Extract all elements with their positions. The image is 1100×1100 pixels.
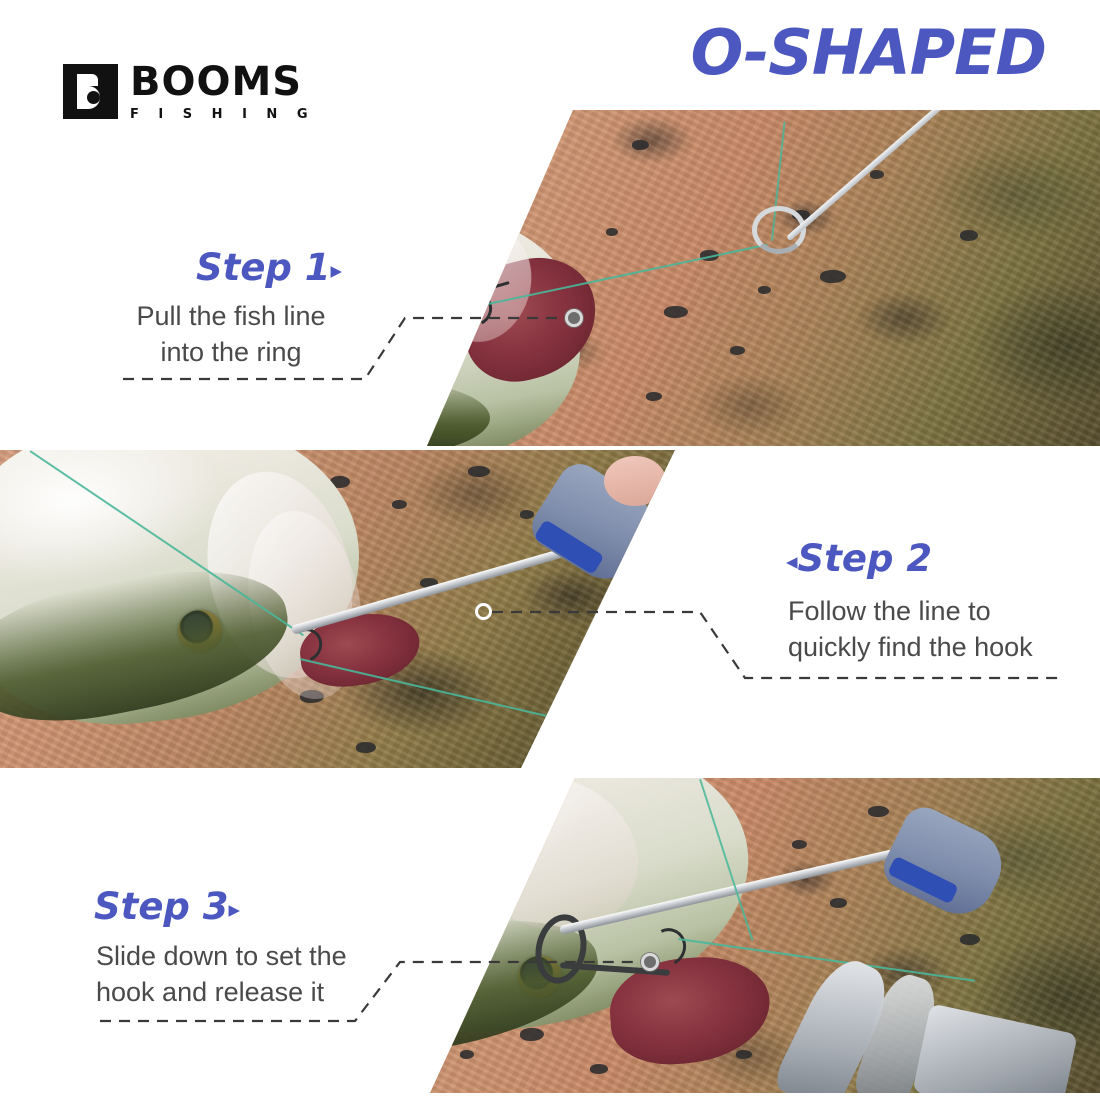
panel-3-image — [400, 778, 1100, 1093]
step-3-label: Step 3 — [94, 885, 229, 928]
marker-step-2 — [475, 603, 492, 620]
step-2-title: ◂Step 2 — [786, 537, 932, 580]
marker-step-3 — [641, 953, 659, 971]
fish-eye — [400, 362, 434, 398]
step-3-title: Step 3▸ — [94, 885, 240, 928]
step-1-label: Step 1 — [196, 246, 331, 289]
panel-2-image — [0, 450, 680, 768]
step-3-body: Slide down to set the hook and release i… — [96, 938, 396, 1010]
step-1-body: Pull the fish line into the ring — [116, 298, 346, 370]
marker-step-1 — [565, 309, 583, 327]
brand-subtitle: F I S H I N G — [130, 108, 315, 121]
infographic-canvas: BOOMS F I S H I N G O-SHAPED Step 1▸ Pul… — [0, 0, 1100, 1100]
step-2-body: Follow the line to quickly find the hook — [788, 593, 1088, 665]
triangle-right-icon: ▸ — [229, 897, 241, 923]
triangle-left-icon: ◂ — [786, 549, 798, 575]
thumb — [604, 456, 666, 506]
photo-step-2 — [0, 450, 680, 768]
triangle-right-icon: ▸ — [331, 258, 343, 284]
step-1-title: Step 1▸ — [196, 246, 342, 289]
brand-name: BOOMS — [130, 62, 315, 102]
photo-step-1 — [400, 110, 1100, 446]
step-2-label: Step 2 — [798, 537, 933, 580]
panel-1-image — [400, 110, 1100, 446]
booms-b-mark-icon — [63, 64, 118, 119]
page-title: O-SHAPED — [691, 16, 1046, 89]
brand-logo: BOOMS F I S H I N G — [63, 62, 315, 121]
photo-step-3 — [400, 778, 1100, 1093]
